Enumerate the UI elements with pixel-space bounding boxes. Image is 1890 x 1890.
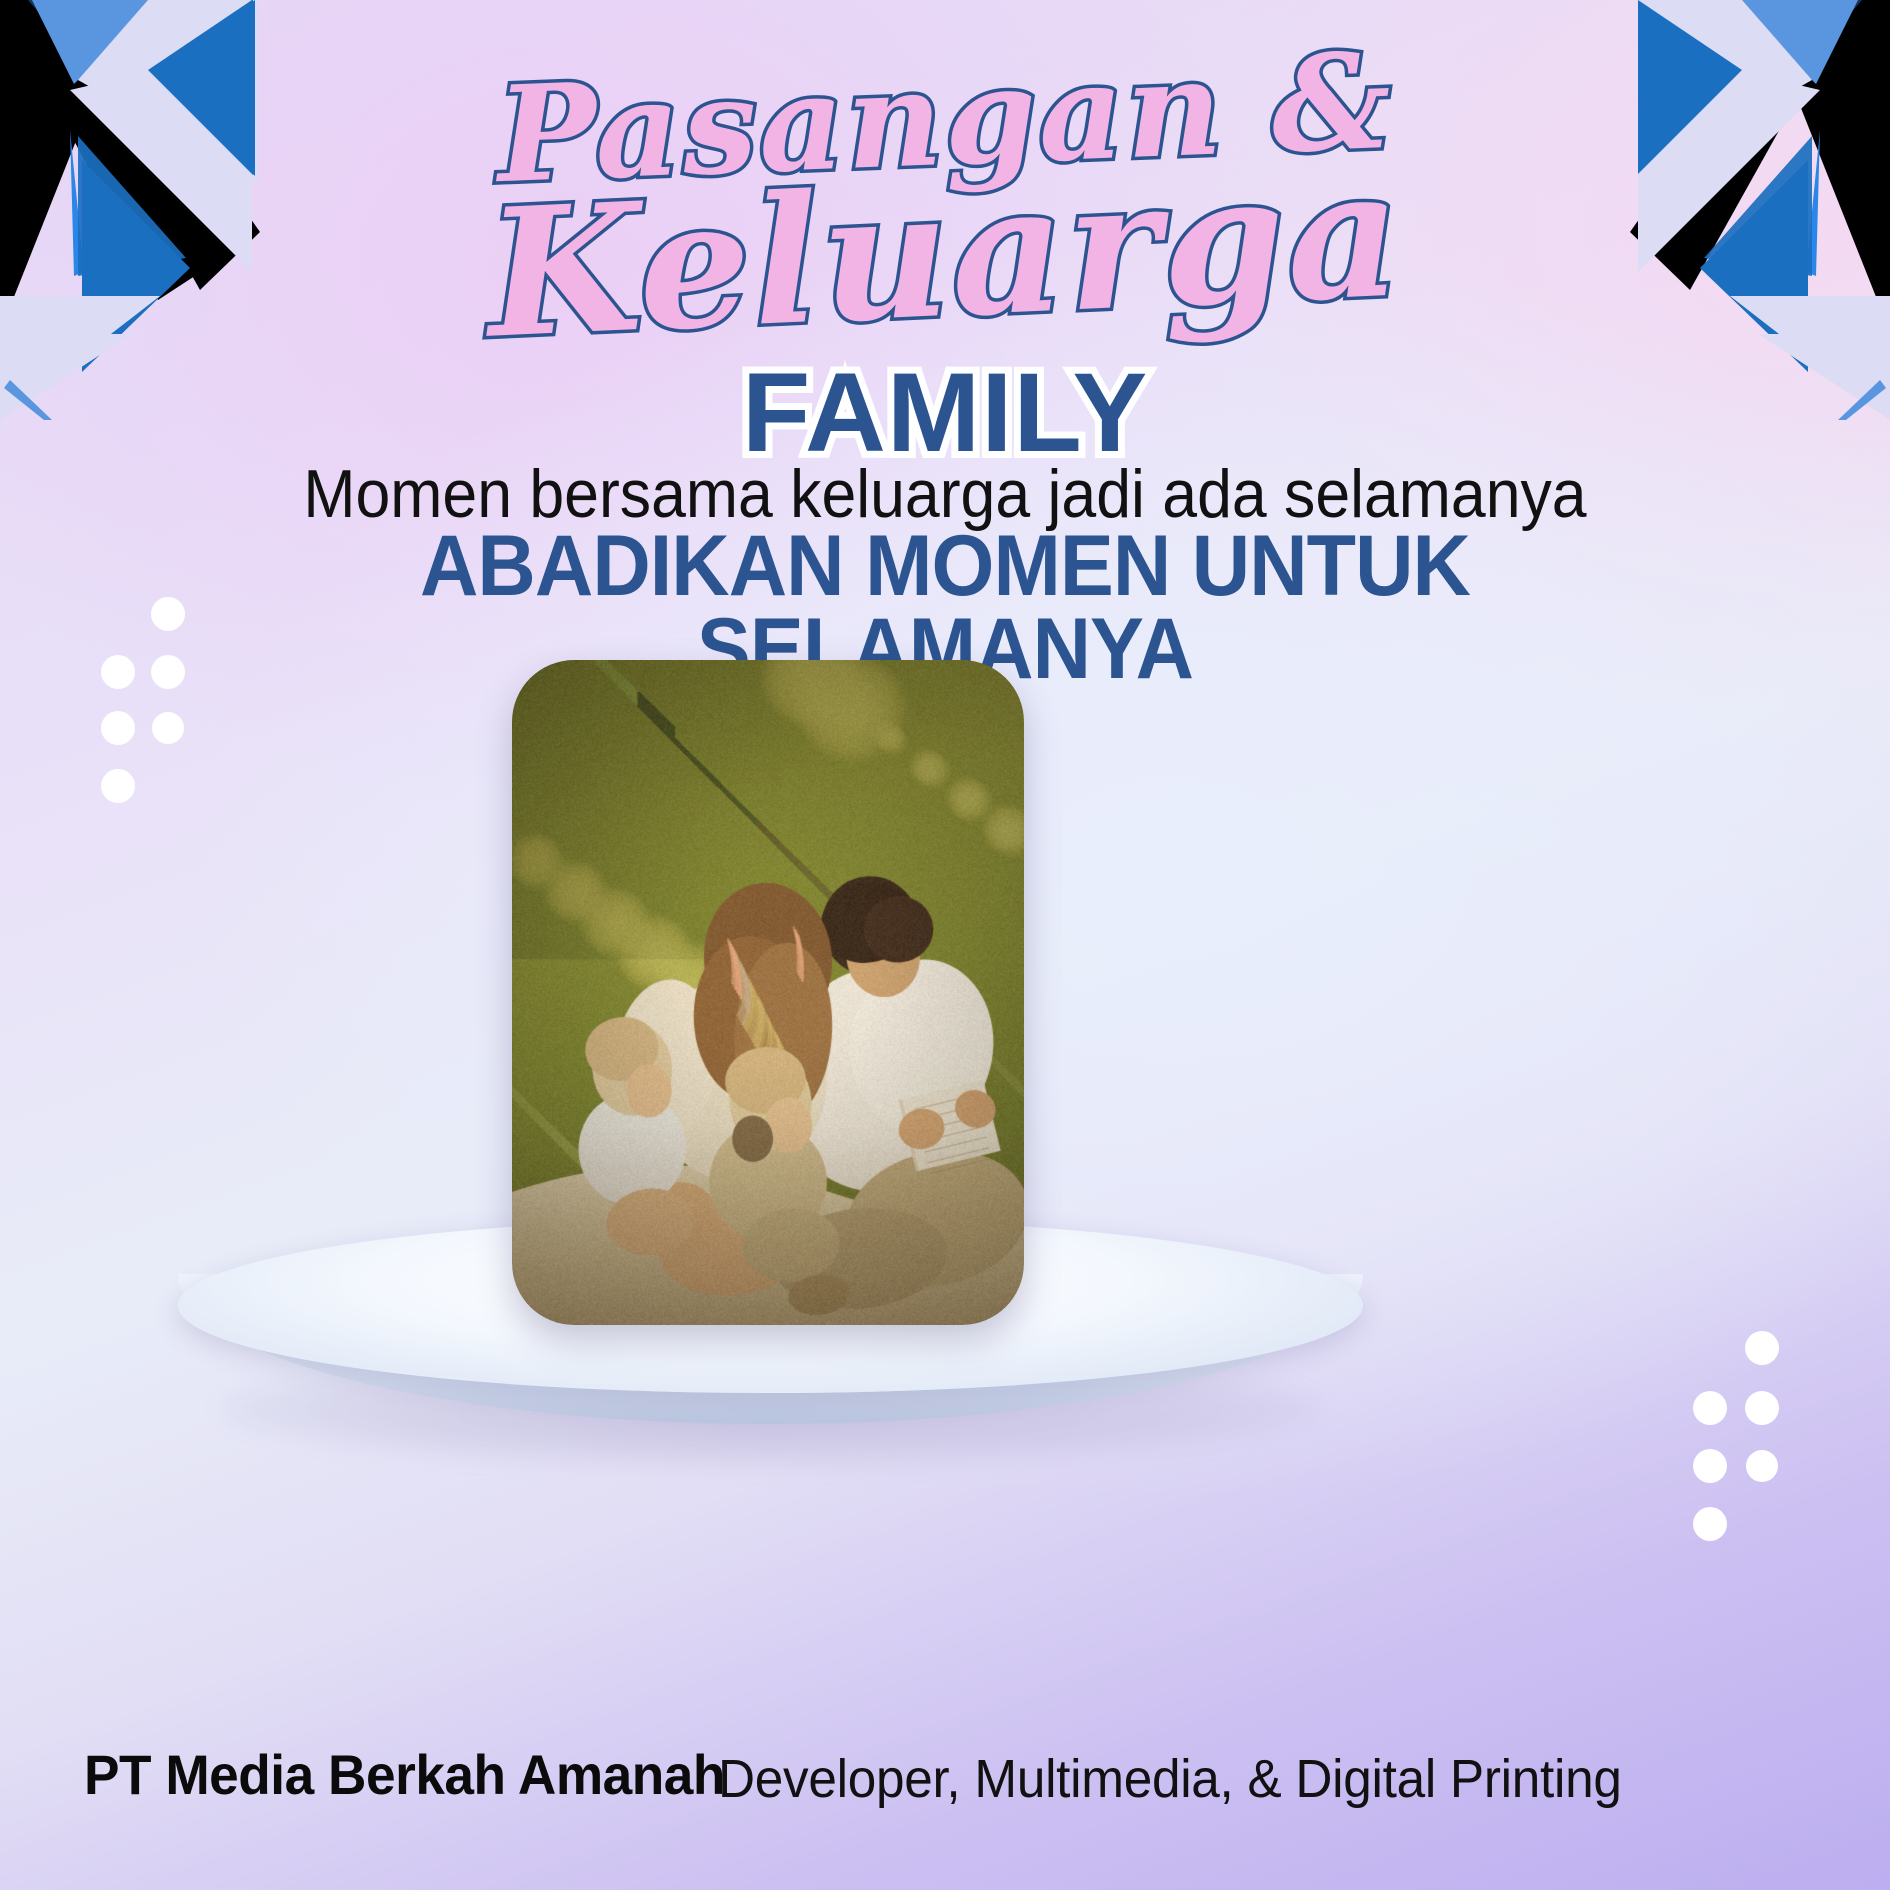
poster-canvas: Pasangan & Keluarga FAMILY Momen bersama…: [0, 0, 1890, 1890]
decorative-dot: [1745, 1391, 1779, 1425]
decorative-dot: [1693, 1507, 1727, 1541]
family-photo-canvas: [512, 660, 1024, 1325]
decorative-dot: [1746, 1450, 1778, 1482]
decorative-dot: [1693, 1391, 1727, 1425]
company-name: PT Media Berkah Amanah: [84, 1742, 725, 1807]
family-photo: [512, 660, 1024, 1325]
decorative-dot: [1745, 1331, 1779, 1365]
services-text: Developer, Multimedia, & Digital Printin…: [718, 1748, 1622, 1810]
decorative-dot: [1693, 1449, 1727, 1483]
